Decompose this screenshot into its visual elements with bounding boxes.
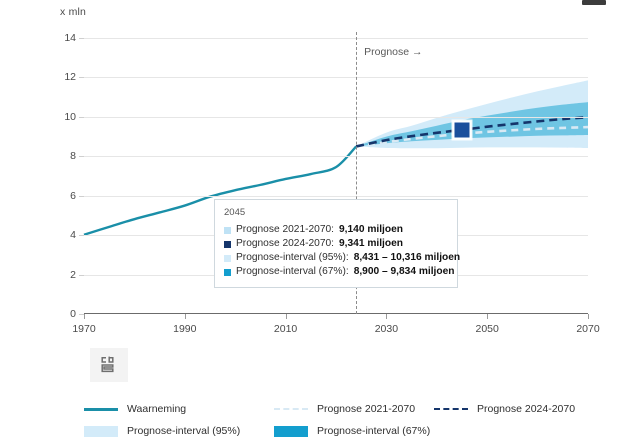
x-tick-mark [487,314,488,319]
y-tick-mark [79,235,84,236]
dashed-dark-line-icon [434,403,468,415]
gridline [84,38,588,39]
toolbar-control-button[interactable] [582,0,606,5]
y-tick-mark [79,196,84,197]
dashed-light-line-icon [274,403,308,415]
highlighted-data-point[interactable] [453,120,472,139]
y-tick-mark [79,117,84,118]
tooltip-swatch-icon [224,241,231,248]
y-axis-tick-label: 2 [70,269,76,281]
gridline [84,117,588,118]
forecast-annotation: Prognose → [364,46,422,58]
tooltip-rows: Prognose 2021-2070:9,140 miljoenPrognose… [224,223,448,279]
legend-label: Waarneming [127,403,186,415]
y-tick-mark [79,156,84,157]
x-tick-mark [286,314,287,319]
y-axis-tick-label: 12 [64,71,76,83]
tooltip-series-value: 9,341 miljoen [339,237,403,251]
x-axis-tick-label: 2050 [476,323,499,335]
tooltip-series-label: Prognose-interval (67%): [236,265,349,279]
legend-item-interval-67[interactable]: Prognose-interval (67%) [274,425,430,437]
legend-item-interval-95[interactable]: Prognose-interval (95%) [84,425,274,437]
x-axis-tick-label: 2030 [375,323,398,335]
y-axis-tick-label: 4 [70,229,76,241]
tooltip-series-value: 9,140 miljoen [339,223,403,237]
population-forecast-chart: x mln 0246810121419701990201020302050207… [0,0,627,448]
tooltip-series-value: 8,900 – 9,834 miljoen [354,265,455,279]
tooltip-series-value: 8,431 – 10,316 miljoen [354,251,460,265]
y-tick-mark [79,275,84,276]
y-axis-tick-label: 10 [64,111,76,123]
x-axis-line [84,313,588,315]
tooltip-row: Prognose-interval (95%):8,431 – 10,316 m… [224,251,448,265]
legend-label: Prognose 2024-2070 [477,403,575,415]
y-tick-mark [79,77,84,78]
y-axis-tick-label: 14 [64,32,76,44]
x-tick-mark [386,314,387,319]
tooltip-swatch-icon [224,269,231,276]
x-tick-mark [588,314,589,319]
cbs-logo-icon [99,355,119,375]
y-axis-unit-label: x mln [60,6,86,18]
tooltip-row: Prognose 2021-2070:9,140 miljoen [224,223,448,237]
area-swatch-95-icon [84,425,118,437]
area-swatch-67-icon [274,425,308,437]
y-axis-tick-label: 6 [70,190,76,202]
x-tick-mark [185,314,186,319]
legend-label: Prognose-interval (67%) [317,425,430,437]
x-axis-tick-label: 2010 [274,323,297,335]
chart-tooltip: 2045 Prognose 2021-2070:9,140 miljoenPro… [214,199,458,288]
tooltip-series-label: Prognose 2021-2070: [236,223,334,237]
tooltip-year: 2045 [224,206,448,220]
gridline [84,196,588,197]
y-tick-mark [79,38,84,39]
tooltip-swatch-icon [224,255,231,262]
solid-line-icon [84,403,118,415]
legend-row-2: Prognose-interval (95%) Prognose-interva… [84,420,604,442]
legend-item-prognose-2024[interactable]: Prognose 2024-2070 [434,403,575,415]
chart-legend: Waarneming Prognose 2021-2070 Prognose 2… [84,398,604,442]
legend-item-waarneming[interactable]: Waarneming [84,403,274,415]
tooltip-series-label: Prognose 2024-2070: [236,237,334,251]
y-axis-tick-label: 8 [70,150,76,162]
legend-row-1: Waarneming Prognose 2021-2070 Prognose 2… [84,398,604,420]
cbs-logo [90,348,128,382]
x-axis-tick-label: 2070 [576,323,599,335]
y-axis-tick-label: 0 [70,308,76,320]
gridline [84,77,588,78]
legend-label: Prognose-interval (95%) [127,425,240,437]
tooltip-row: Prognose 2024-2070:9,341 miljoen [224,237,448,251]
legend-label: Prognose 2021-2070 [317,403,415,415]
x-tick-mark [84,314,85,319]
tooltip-series-label: Prognose-interval (95%): [236,251,349,265]
x-axis-tick-label: 1990 [173,323,196,335]
gridline [84,156,588,157]
x-axis-tick-label: 1970 [72,323,95,335]
legend-item-prognose-2021[interactable]: Prognose 2021-2070 [274,403,434,415]
tooltip-swatch-icon [224,227,231,234]
tooltip-row: Prognose-interval (67%):8,900 – 9,834 mi… [224,265,448,279]
